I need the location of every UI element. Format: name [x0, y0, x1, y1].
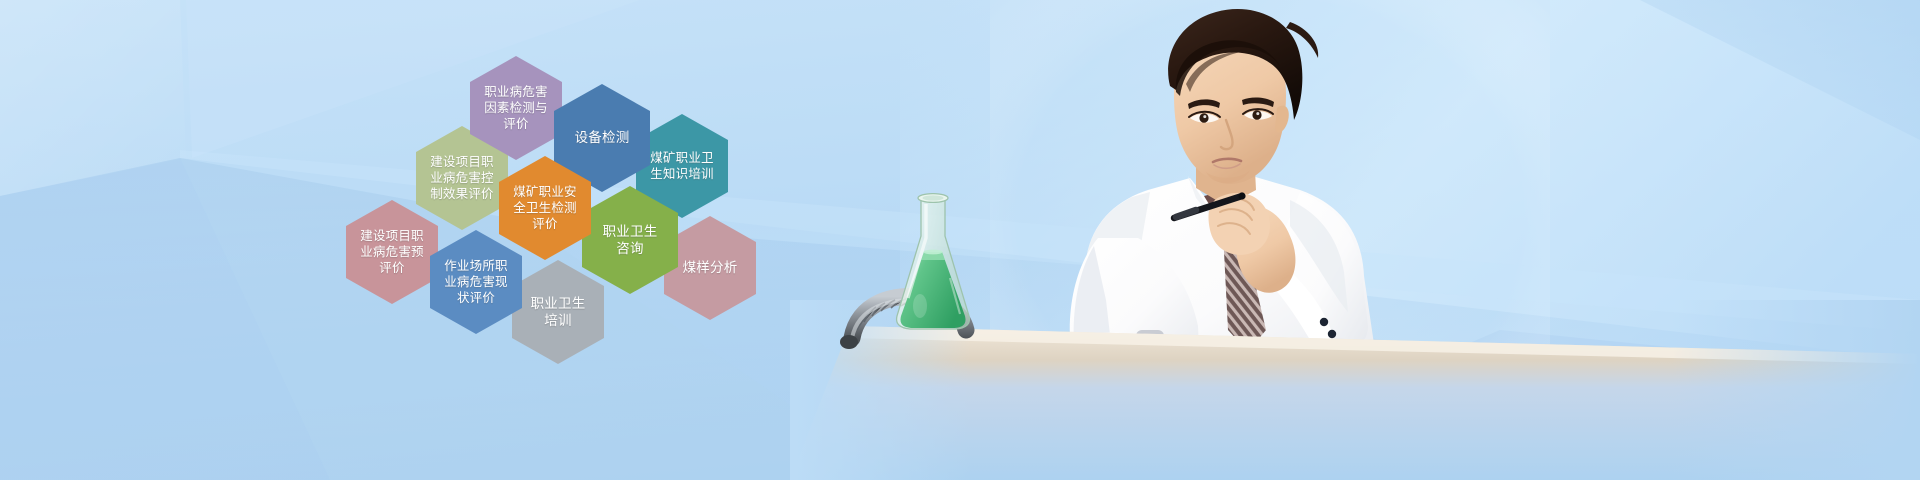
- hex-label: 煤样分析: [674, 259, 747, 276]
- hex-label: 职业卫生咨询: [594, 223, 667, 258]
- hex-workplace-occupational-disease-hazard-status-evaluation[interactable]: 作业场所职业病危害现状评价: [430, 230, 522, 334]
- hex-label: 设备检测: [566, 129, 639, 146]
- service-hexagon-cluster: 建设项目职业病危害预评价 建设项目职业病危害控制效果评价 职业病危害因素检测与评…: [342, 56, 762, 356]
- erlenmeyer-flask-icon: [890, 188, 976, 333]
- hex-label: 煤矿职业卫生知识培训: [641, 150, 723, 182]
- hex-label: 建设项目职业病危害预评价: [351, 228, 433, 276]
- hex-construction-project-hazard-pre-evaluation[interactable]: 建设项目职业病危害预评价: [346, 200, 438, 304]
- hero-banner: 建设项目职业病危害预评价 建设项目职业病危害控制效果评价 职业病危害因素检测与评…: [0, 0, 1920, 480]
- hex-label: 煤矿职业安全卫生检测评价: [504, 184, 586, 232]
- hex-label: 作业场所职业病危害现状评价: [435, 258, 517, 306]
- hex-label: 职业卫生培训: [522, 295, 595, 330]
- hex-occupational-health-training[interactable]: 职业卫生培训: [512, 260, 604, 364]
- hex-label: 职业病危害因素检测与评价: [475, 84, 557, 132]
- hex-label: 建设项目职业病危害控制效果评价: [421, 154, 503, 202]
